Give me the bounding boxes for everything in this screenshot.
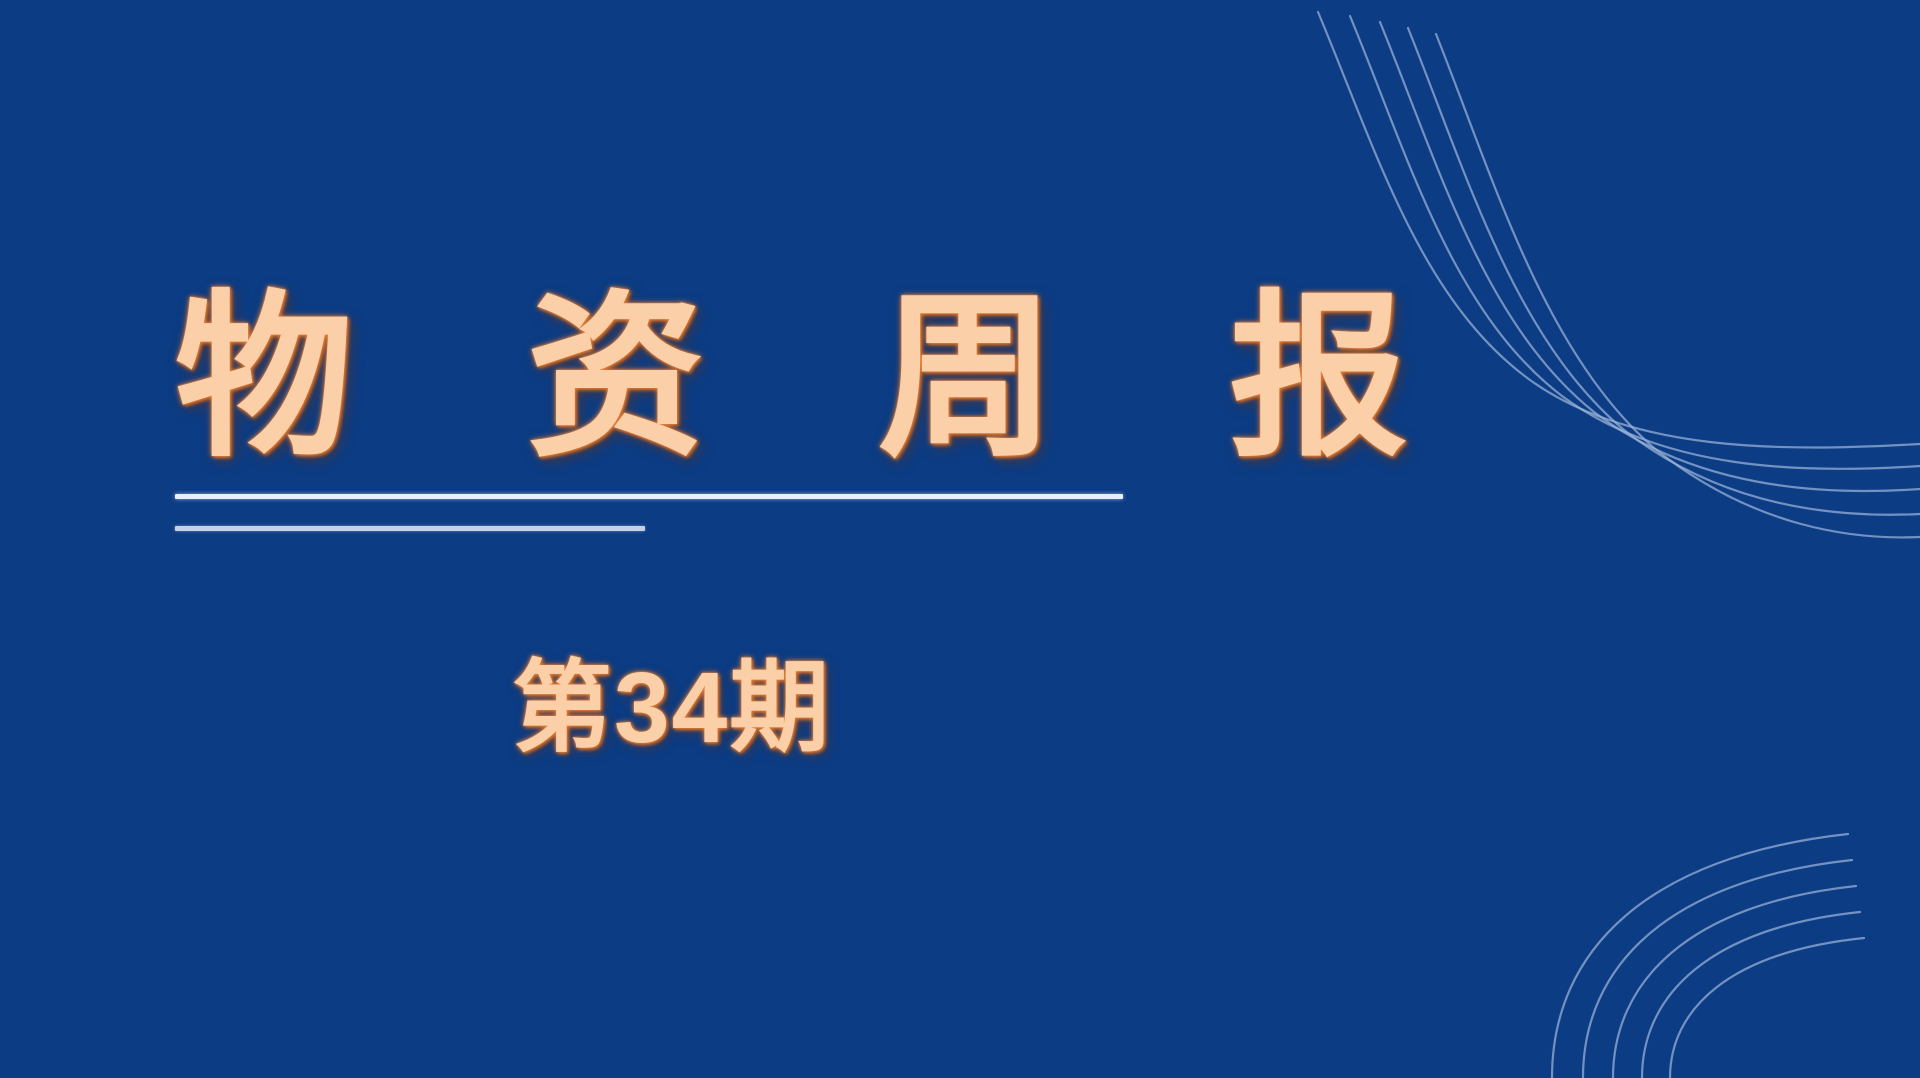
title-underline-long bbox=[175, 494, 1123, 499]
page-title: 物 资 周 报 bbox=[175, 282, 1275, 474]
arc-line-4 bbox=[1642, 912, 1860, 1078]
arc-lines-bottom-right-decoration bbox=[1500, 728, 1920, 1078]
title-underline-short bbox=[175, 526, 645, 531]
arc-line-5 bbox=[1670, 938, 1864, 1078]
title-block: 物 资 周 报 bbox=[175, 282, 1275, 531]
issue-number: 第34期 bbox=[512, 648, 831, 768]
arc-line-1 bbox=[1552, 834, 1848, 1078]
arc-line-3 bbox=[1613, 886, 1856, 1078]
swoosh-line-4 bbox=[1408, 28, 1920, 515]
swoosh-line-5 bbox=[1436, 34, 1920, 537]
title-slide: 物 资 周 报 第34期 bbox=[0, 0, 1920, 1078]
arc-line-2 bbox=[1583, 860, 1852, 1078]
